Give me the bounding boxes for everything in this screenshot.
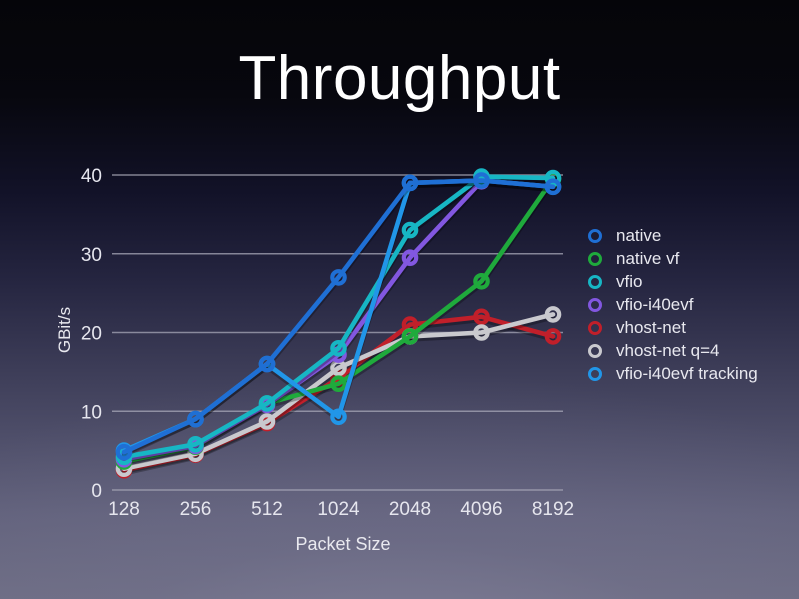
legend-item-vfio-i40evf-tracking[interactable]: vfio-i40evf tracking (585, 362, 797, 385)
x-tick-label: 128 (108, 499, 140, 520)
legend-item-label: vfio-i40evf (607, 295, 693, 315)
legend-item-label: native vf (607, 249, 679, 269)
y-tick-label: 0 (91, 481, 102, 502)
legend-marker-icon (585, 339, 607, 362)
legend-marker-icon (585, 362, 607, 385)
legend-marker-icon (585, 270, 607, 293)
legend-item-native-vf[interactable]: native vf (585, 247, 797, 270)
legend-item-vhost-net-q-4[interactable]: vhost-net q=4 (585, 339, 797, 362)
y-axis-title: GBit/s (55, 307, 74, 353)
legend-marker-icon (585, 293, 607, 316)
x-tick-label: 4096 (460, 499, 502, 520)
y-tick-label: 40 (81, 166, 102, 187)
x-tick-label: 512 (251, 499, 283, 520)
x-axis-tick-labels: 1282565121024204840968192 (108, 499, 574, 520)
legend-item-vfio-i40evf[interactable]: vfio-i40evf (585, 293, 797, 316)
legend-item-label: vhost-net (607, 318, 686, 338)
legend-marker-icon (585, 316, 607, 339)
legend-marker-icon (585, 224, 607, 247)
x-axis-title: Packet Size (295, 534, 390, 554)
legend-item-label: vhost-net q=4 (607, 341, 720, 361)
legend-item-native[interactable]: native (585, 224, 797, 247)
legend-item-label: native (607, 226, 661, 246)
x-tick-label: 8192 (532, 499, 574, 520)
legend-marker-icon (585, 247, 607, 270)
x-tick-label: 256 (180, 499, 212, 520)
chart-legend: nativenative vfvfiovfio-i40evfvhost-netv… (585, 224, 797, 385)
series-lines (118, 170, 559, 476)
legend-item-label: vfio (607, 272, 642, 292)
slide-root: Throughput 010203040 1282565121024204840… (0, 0, 799, 599)
legend-item-label: vfio-i40evf tracking (607, 364, 758, 384)
y-tick-label: 10 (81, 402, 102, 423)
x-tick-label: 1024 (317, 499, 360, 520)
y-tick-label: 20 (81, 324, 102, 345)
y-axis-tick-labels: 010203040 (81, 166, 102, 502)
y-tick-label: 30 (81, 245, 102, 266)
legend-item-vfio[interactable]: vfio (585, 270, 797, 293)
legend-item-vhost-net[interactable]: vhost-net (585, 316, 797, 339)
x-tick-label: 2048 (389, 499, 431, 520)
